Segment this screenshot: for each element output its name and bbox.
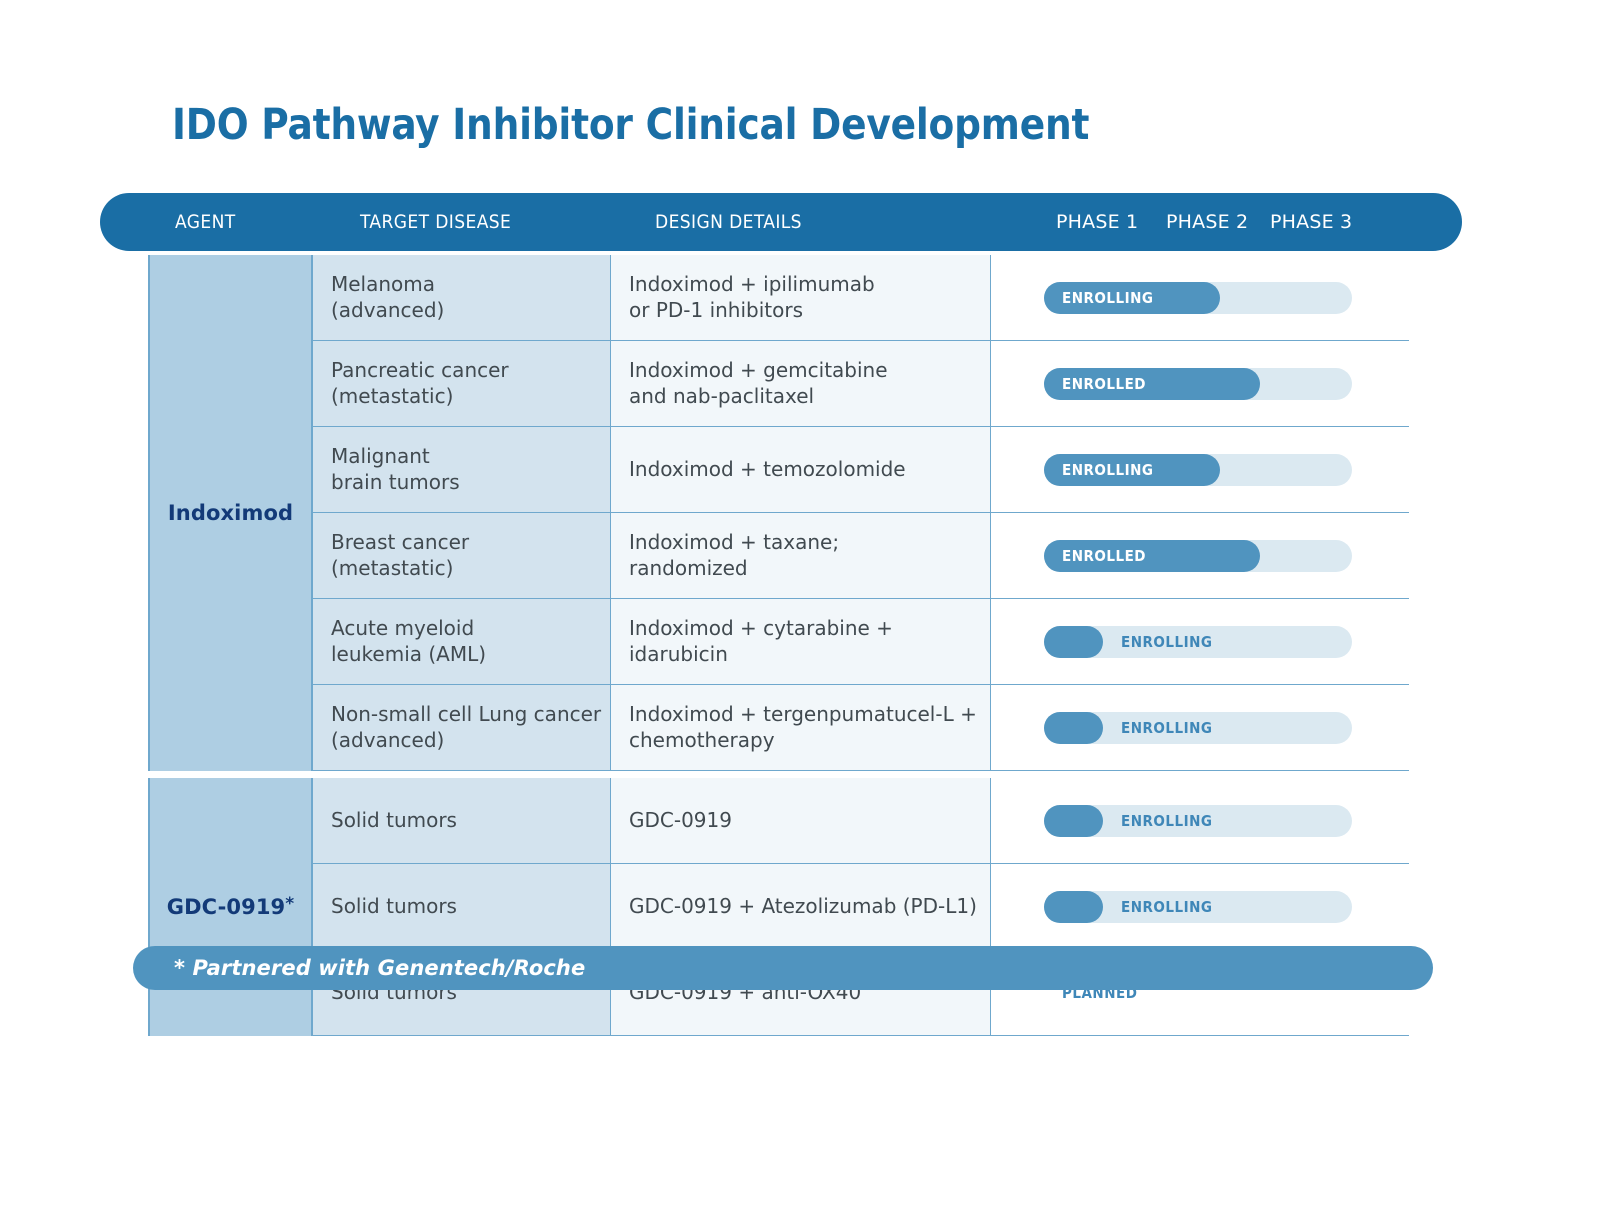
- design-details-cell: GDC-0919: [611, 778, 991, 863]
- agent-footnote-marker: *: [285, 894, 294, 914]
- design-details-text: GDC-0919: [629, 808, 732, 834]
- agent-name-label: Indoximod: [168, 501, 293, 525]
- design-details-text: Indoximod + gemcitabineand nab-paclitaxe…: [629, 358, 888, 409]
- status-badge: ENROLLED: [1044, 547, 1146, 565]
- table-row: Acute myeloidleukemia (AML)Indoximod + c…: [313, 599, 1409, 685]
- design-details-cell: Indoximod + cytarabine +idarubicin: [611, 599, 991, 684]
- table-header-bar: AGENT TARGET DISEASE DESIGN DETAILS PHAS…: [100, 193, 1462, 251]
- phase-progress-cell: ENROLLING: [991, 427, 1409, 512]
- table-row: Non-small cell Lung cancer(advanced)Indo…: [313, 685, 1409, 771]
- column-header-phase-2: PHASE 2: [1166, 211, 1248, 233]
- target-disease-cell: Solid tumors: [313, 864, 611, 949]
- design-details-cell: Indoximod + temozolomide: [611, 427, 991, 512]
- status-badge: ENROLLING: [1121, 633, 1212, 651]
- target-disease-text: Malignantbrain tumors: [331, 444, 460, 495]
- column-header-phase-3: PHASE 3: [1270, 211, 1352, 233]
- design-details-text: Indoximod + ipilimumabor PD-1 inhibitors: [629, 272, 875, 323]
- design-details-cell: Indoximod + gemcitabineand nab-paclitaxe…: [611, 341, 991, 426]
- page-title: IDO Pathway Inhibitor Clinical Developme…: [172, 100, 1089, 150]
- phase-progress-cell: ENROLLING: [991, 599, 1409, 684]
- phase-progress-cell: ENROLLING: [991, 864, 1409, 949]
- table-row: Pancreatic cancer(metastatic)Indoximod +…: [313, 341, 1409, 427]
- phase-progress-cell: ENROLLING: [991, 685, 1409, 770]
- column-header-design-details: DESIGN DETAILS: [655, 211, 802, 233]
- agent-cell: GDC-0919*: [148, 778, 313, 1036]
- footnote-text: * Partnered with Genentech/Roche: [133, 956, 585, 980]
- phase-progress-track: ENROLLED: [1044, 368, 1352, 400]
- target-disease-cell: Pancreatic cancer(metastatic): [313, 341, 611, 426]
- target-disease-text: Acute myeloidleukemia (AML): [331, 616, 486, 667]
- phase-progress-cell: ENROLLED: [991, 341, 1409, 426]
- trial-rows: Solid tumorsGDC-0919ENROLLINGSolid tumor…: [313, 778, 1409, 1036]
- phase-progress-fill: [1044, 805, 1103, 837]
- target-disease-cell: Melanoma(advanced): [313, 255, 611, 340]
- design-details-text: GDC-0919 + Atezolizumab (PD-L1): [629, 894, 977, 920]
- phase-progress-cell: ENROLLING: [991, 778, 1409, 863]
- target-disease-text: Breast cancer(metastatic): [331, 530, 469, 581]
- table-row: Solid tumorsGDC-0919 + Atezolizumab (PD-…: [313, 864, 1409, 950]
- design-details-cell: Indoximod + ipilimumabor PD-1 inhibitors: [611, 255, 991, 340]
- target-disease-cell: Acute myeloidleukemia (AML): [313, 599, 611, 684]
- status-badge: ENROLLED: [1044, 375, 1146, 393]
- phase-progress-fill: [1044, 891, 1103, 923]
- agent-name-label: GDC-0919*: [167, 894, 295, 919]
- target-disease-cell: Non-small cell Lung cancer(advanced): [313, 685, 611, 770]
- target-disease-cell: Solid tumors: [313, 778, 611, 863]
- target-disease-text: Melanoma(advanced): [331, 272, 444, 323]
- target-disease-text: Non-small cell Lung cancer(advanced): [331, 702, 601, 753]
- status-badge: ENROLLING: [1121, 812, 1212, 830]
- phase-progress-fill: [1044, 626, 1103, 658]
- column-header-phase-1: PHASE 1: [1056, 211, 1138, 233]
- design-details-cell: GDC-0919 + Atezolizumab (PD-L1): [611, 864, 991, 949]
- agent-cell: Indoximod: [148, 255, 313, 771]
- phase-progress-track: ENROLLING: [1044, 282, 1352, 314]
- table-row: Malignantbrain tumorsIndoximod + temozol…: [313, 427, 1409, 513]
- agent-group-indoximod: IndoximodMelanoma(advanced)Indoximod + i…: [148, 255, 1409, 771]
- phase-progress-track: ENROLLING: [1044, 891, 1352, 923]
- phase-progress-track: ENROLLED: [1044, 540, 1352, 572]
- status-badge: ENROLLING: [1121, 719, 1212, 737]
- column-header-agent: AGENT: [175, 211, 236, 233]
- table-row: Solid tumorsGDC-0919ENROLLING: [313, 778, 1409, 864]
- target-disease-text: Solid tumors: [331, 894, 457, 920]
- target-disease-cell: Malignantbrain tumors: [313, 427, 611, 512]
- agent-group-gdc-0919: GDC-0919*Solid tumorsGDC-0919ENROLLINGSo…: [148, 778, 1409, 1036]
- footnote-bar: * Partnered with Genentech/Roche: [133, 946, 1433, 990]
- design-details-text: Indoximod + tergenpumatucel-L +chemother…: [629, 702, 977, 753]
- design-details-cell: Indoximod + taxane;randomized: [611, 513, 991, 598]
- column-header-target-disease: TARGET DISEASE: [360, 211, 511, 233]
- phase-progress-cell: ENROLLED: [991, 513, 1409, 598]
- table-row: Melanoma(advanced)Indoximod + ipilimumab…: [313, 255, 1409, 341]
- design-details-text: Indoximod + temozolomide: [629, 457, 906, 483]
- phase-progress-track: ENROLLING: [1044, 626, 1352, 658]
- pipeline-table: IndoximodMelanoma(advanced)Indoximod + i…: [148, 253, 1409, 1036]
- trial-rows: Melanoma(advanced)Indoximod + ipilimumab…: [313, 255, 1409, 771]
- target-disease-text: Solid tumors: [331, 808, 457, 834]
- phase-progress-track: ENROLLING: [1044, 712, 1352, 744]
- status-badge: ENROLLING: [1044, 461, 1153, 479]
- design-details-text: Indoximod + taxane;randomized: [629, 530, 839, 581]
- design-details-cell: Indoximod + tergenpumatucel-L +chemother…: [611, 685, 991, 770]
- phase-progress-track: ENROLLING: [1044, 454, 1352, 486]
- design-details-text: Indoximod + cytarabine +idarubicin: [629, 616, 893, 667]
- status-badge: ENROLLING: [1044, 289, 1153, 307]
- phase-progress-fill: [1044, 712, 1103, 744]
- target-disease-cell: Breast cancer(metastatic): [313, 513, 611, 598]
- phase-progress-track: ENROLLING: [1044, 805, 1352, 837]
- status-badge: ENROLLING: [1121, 898, 1212, 916]
- agent-group-separator: [148, 771, 1409, 778]
- table-row: Breast cancer(metastatic)Indoximod + tax…: [313, 513, 1409, 599]
- target-disease-text: Pancreatic cancer(metastatic): [331, 358, 509, 409]
- phase-progress-cell: ENROLLING: [991, 255, 1409, 340]
